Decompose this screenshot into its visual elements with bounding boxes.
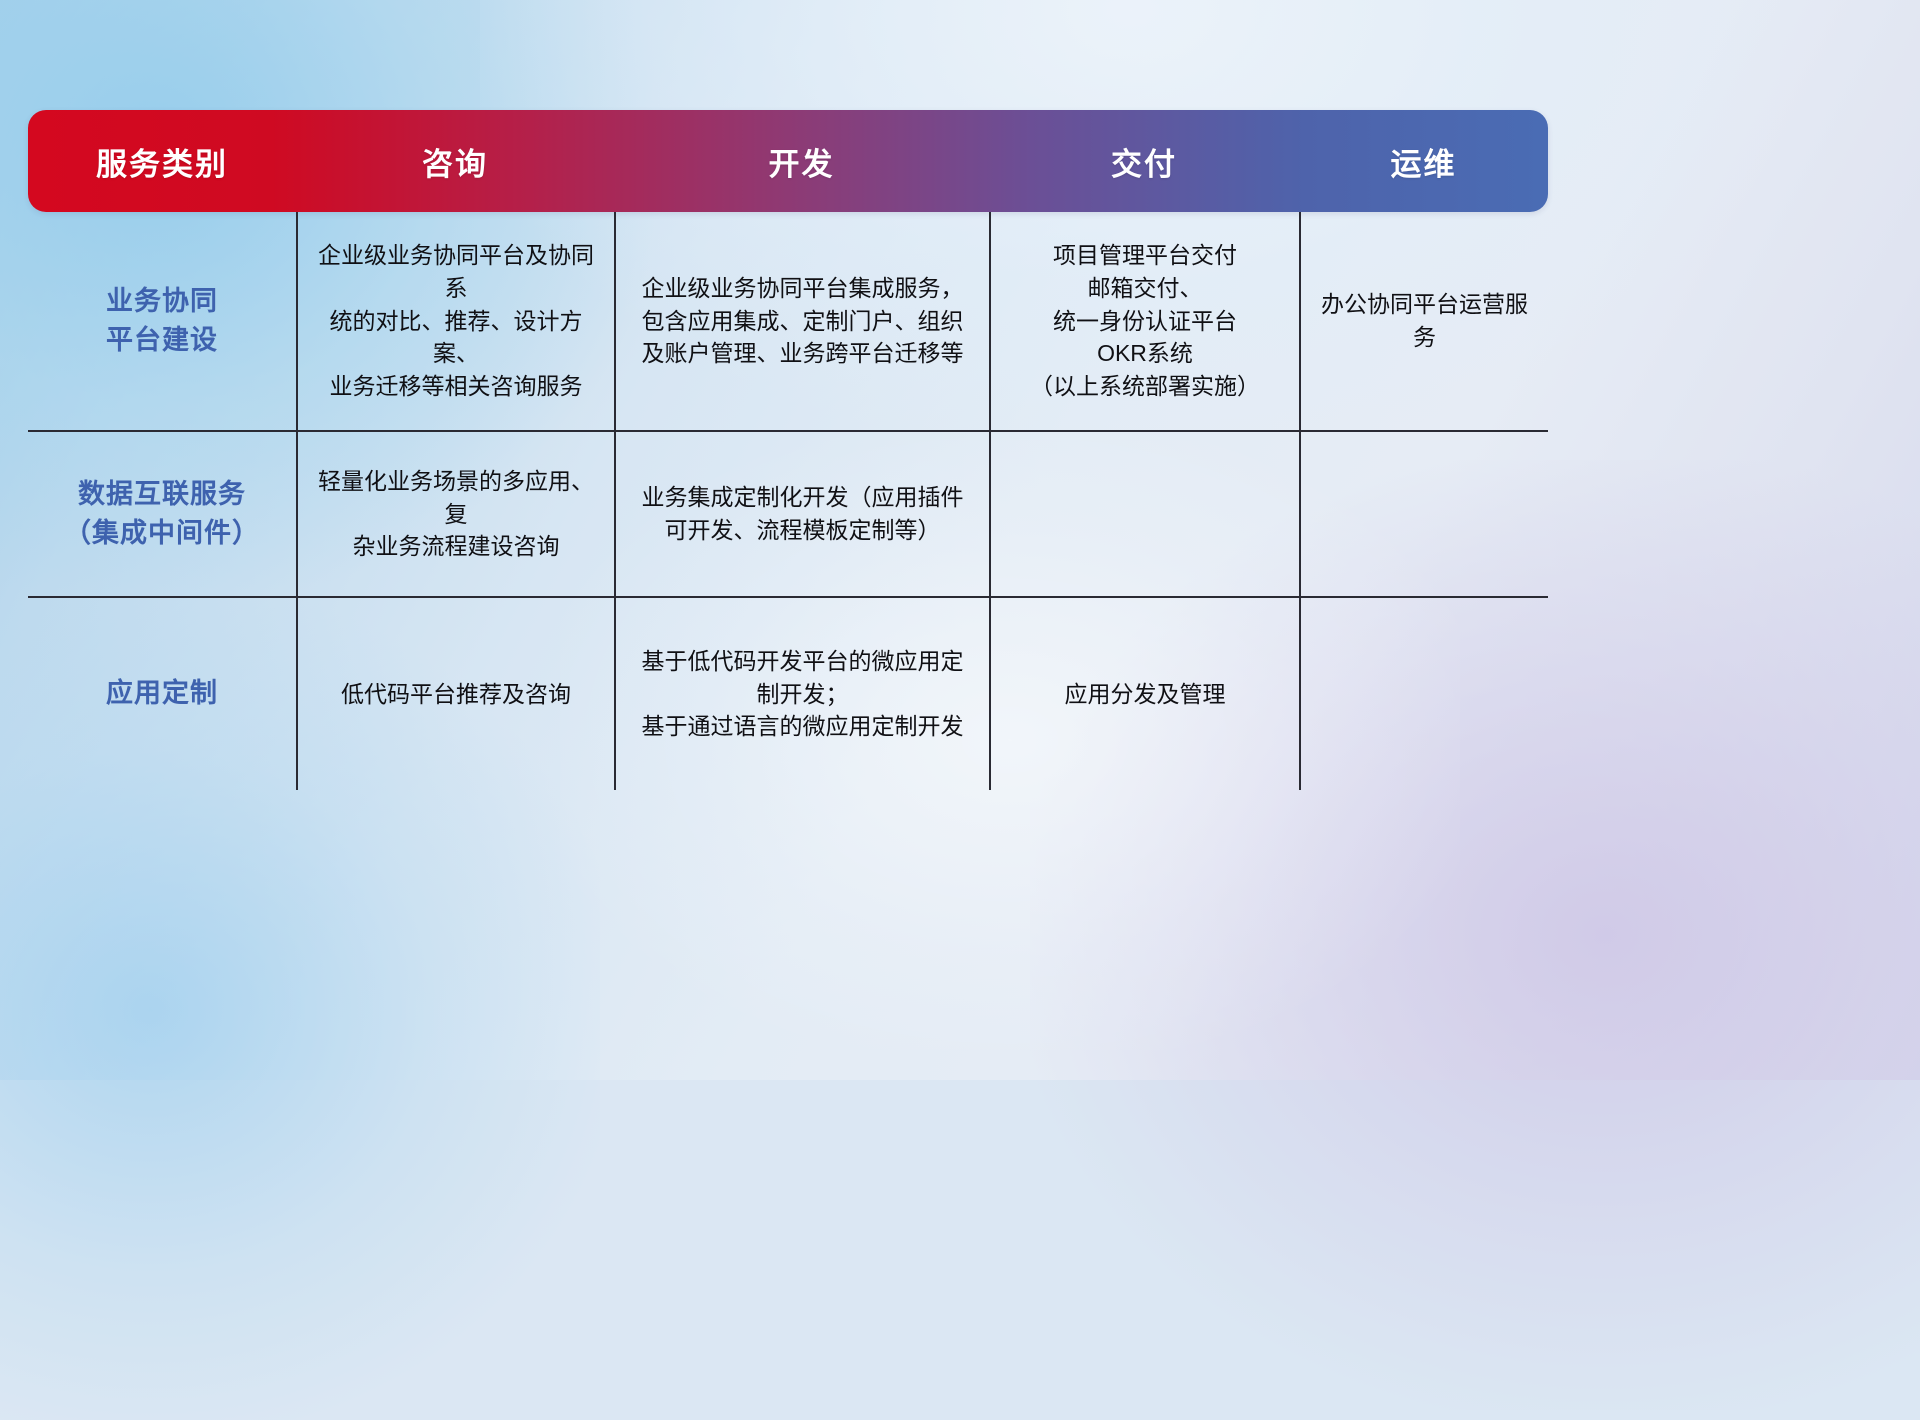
cell-development: 企业级业务协同平台集成服务，包含应用集成、定制门户、组织及账户管理、业务跨平台迁… bbox=[614, 212, 989, 430]
service-matrix-table: 服务类别 咨询 开发 交付 运维 业务协同平台建设 企业级业务协同平台及协同系统… bbox=[28, 110, 1548, 790]
table-row: 业务协同平台建设 企业级业务协同平台及协同系统的对比、推荐、设计方案、业务迁移等… bbox=[28, 212, 1548, 430]
cell-consulting: 企业级业务协同平台及协同系统的对比、推荐、设计方案、业务迁移等相关咨询服务 bbox=[296, 212, 614, 430]
table-body: 业务协同平台建设 企业级业务协同平台及协同系统的对比、推荐、设计方案、业务迁移等… bbox=[28, 212, 1548, 790]
table-row: 数据互联服务（集成中间件） 轻量化业务场景的多应用、复杂业务流程建设咨询 业务集… bbox=[28, 430, 1548, 596]
cell-development: 基于低代码开发平台的微应用定制开发；基于通过语言的微应用定制开发 bbox=[614, 598, 989, 790]
cell-delivery bbox=[989, 432, 1299, 596]
cell-operations bbox=[1299, 598, 1548, 790]
cell-operations: 办公协同平台运营服务 bbox=[1299, 212, 1548, 430]
cell-consulting: 低代码平台推荐及咨询 bbox=[296, 598, 614, 790]
column-header-delivery: 交付 bbox=[989, 110, 1299, 212]
column-header-category: 服务类别 bbox=[28, 110, 296, 212]
row-category-label: 业务协同平台建设 bbox=[28, 212, 296, 430]
cell-operations bbox=[1299, 432, 1548, 596]
row-category-label: 数据互联服务（集成中间件） bbox=[28, 432, 296, 596]
cell-delivery: 应用分发及管理 bbox=[989, 598, 1299, 790]
column-header-development: 开发 bbox=[614, 110, 989, 212]
cell-consulting: 轻量化业务场景的多应用、复杂业务流程建设咨询 bbox=[296, 432, 614, 596]
row-category-label: 应用定制 bbox=[28, 598, 296, 790]
cell-development: 业务集成定制化开发（应用插件可开发、流程模板定制等） bbox=[614, 432, 989, 596]
cell-delivery: 项目管理平台交付邮箱交付、统一身份认证平台OKR系统（以上系统部署实施） bbox=[989, 212, 1299, 430]
column-header-operations: 运维 bbox=[1299, 110, 1548, 212]
table-row: 应用定制 低代码平台推荐及咨询 基于低代码开发平台的微应用定制开发；基于通过语言… bbox=[28, 596, 1548, 790]
column-header-consulting: 咨询 bbox=[296, 110, 614, 212]
table-header-row: 服务类别 咨询 开发 交付 运维 bbox=[28, 110, 1548, 212]
